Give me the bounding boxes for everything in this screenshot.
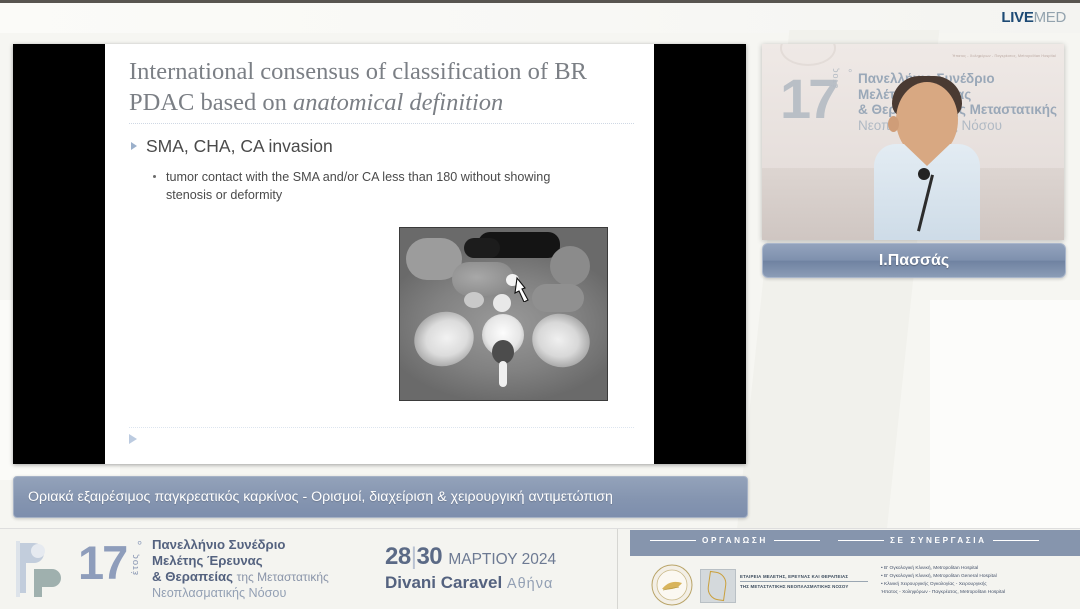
date-day-from: 28 <box>385 543 411 570</box>
band-rule-left <box>650 540 696 541</box>
collaboration-label-text: ΣΕ ΣΥΝΕΡΓΑΣΙΑ <box>890 536 987 545</box>
brand-live-text: LIVE <box>1001 9 1033 26</box>
footer-conf-line-4: Νεοπλασματικής Νόσου <box>152 586 286 600</box>
ct-ivc <box>464 292 484 308</box>
footer-divider <box>617 529 618 609</box>
slide-title: International consensus of classificatio… <box>129 56 634 118</box>
speaker-ear <box>888 116 899 132</box>
ct-spinous-process <box>499 361 507 387</box>
backdrop-etos-label: έτος <box>830 67 840 88</box>
ct-stomach-gas-2 <box>464 238 500 258</box>
footer-etos-label: έτος <box>130 553 141 575</box>
footer-conference-number: 17 <box>78 535 126 590</box>
footer-conf-line-3-bold: & Θεραπείας <box>152 569 237 584</box>
footer-dates: 28|30 ΜΑΡΤΙΟΥ 2024 Divani Caravel Αθήνα <box>385 543 556 593</box>
footer-date-line: 28|30 ΜΑΡΤΙΟΥ 2024 <box>385 543 556 571</box>
backdrop-small-text: Ήπατος - Χοληφόρων - Παγκρέατος, Metropo… <box>952 54 1056 58</box>
speaker-name-text: Ι.Πασσάς <box>879 252 949 270</box>
brand-med-text: MED <box>1034 9 1066 26</box>
speaker-figure <box>874 82 980 240</box>
footer-conf-line-3-thin: της Μεταστατικής <box>237 570 329 584</box>
band-rule-right <box>774 540 820 541</box>
dot-bullet-icon <box>153 175 156 178</box>
slide-bottom-triangle-icon <box>129 434 137 444</box>
organizer-label: ΟΡΓΑΝΩΣΗ <box>650 536 820 545</box>
triangle-bullet-icon <box>131 142 137 150</box>
society-name: ΕΤΑΙΡΕΙΑ ΜΕΛΕΤΗΣ, ΕΡΕΥΝΑΣ ΚΑΙ ΘΕΡΑΠΕΙΑΣ … <box>740 573 868 592</box>
footer-conf-line-2: Μελέτης Έρευνας <box>152 553 263 568</box>
date-month-year: ΜΑΡΤΙΟΥ 2024 <box>448 551 556 568</box>
slide-title-line2-plain: PDAC based on <box>129 89 293 116</box>
slide-viewer[interactable]: International consensus of classificatio… <box>13 44 746 464</box>
slide-bullet-level1-text: SMA, CHA, CA invasion <box>146 136 333 156</box>
slide-title-line2-italic: anatomical definition <box>293 89 503 116</box>
footer-organizer-band: ΟΡΓΑΝΩΣΗ ΣΕ ΣΥΝΕΡΓΑΣΙΑ <box>630 530 1080 556</box>
session-title-bar: Οριακά εξαιρέσιμος παγκρεατικός καρκίνος… <box>13 476 748 518</box>
slide-title-line1: International consensus of classificatio… <box>129 58 587 85</box>
footer-venue-line: Divani Caravel Αθήνα <box>385 573 556 593</box>
backdrop-conference-number: 17 <box>780 66 836 131</box>
microphone-icon <box>918 168 930 180</box>
backdrop-degree-symbol: ° <box>848 68 852 80</box>
footer: 17 ° έτος Πανελλήνιο Συνέδριο Μελέτης Έρ… <box>0 528 1080 609</box>
ct-arrow-annotation-icon <box>514 276 538 302</box>
society-seal-icon <box>650 563 694 607</box>
venue-city: Αθήνα <box>507 576 553 592</box>
ct-bowel-right <box>532 284 584 312</box>
speaker-name-badge: Ι.Πασσάς <box>762 243 1066 278</box>
conference-mark-icon <box>14 535 70 601</box>
organizer-label-text: ΟΡΓΑΝΩΣΗ <box>702 536 768 545</box>
collaboration-label: ΣΕ ΣΥΝΕΡΓΑΣΙΑ <box>838 536 1039 545</box>
slide-content: International consensus of classificatio… <box>105 44 654 464</box>
affiliation-item-continued: Ήπατος - Χοληφόρων - Παγκρέατος, Metropo… <box>881 589 1074 597</box>
footer-conference-title: Πανελλήνιο Συνέδριο Μελέτης Έρευνας & Θε… <box>152 537 362 602</box>
venue-name: Divani Caravel <box>385 573 502 592</box>
ct-aorta <box>493 294 511 312</box>
affiliations-list: Β' Ογκολογική Κλινική, Metropolitan Hosp… <box>874 565 1074 597</box>
affiliation-item: Β' Ογκολογική Κλινική, Metropolitan Hosp… <box>881 565 1074 573</box>
ct-pancreas-mass <box>452 262 514 296</box>
slide-bullet-level2-text: tumor contact with the SMA and/or CA les… <box>166 168 586 204</box>
footer-degree-symbol: ° <box>137 538 142 553</box>
affiliation-item: Κλινική Χειρουργικής Ογκολογίας - Χειρου… <box>881 581 1074 589</box>
band2-rule-right <box>993 540 1039 541</box>
footer-conf-line-1: Πανελλήνιο Συνέδριο <box>152 537 285 552</box>
ct-scan-image <box>399 227 608 401</box>
top-bar: LIVEMED <box>0 0 1080 33</box>
livemed-logo: LIVEMED <box>1001 9 1066 26</box>
speaker-video-player[interactable]: 17 ° έτος Πανελλήνιο Συνέδριο Μελέτης Έρ… <box>762 44 1064 240</box>
band2-rule-left <box>838 540 884 541</box>
slide-bullet-level1: SMA, CHA, CA invasion <box>131 136 631 157</box>
slide-bullet-level2: tumor contact with the SMA and/or CA les… <box>153 168 623 204</box>
ct-bowel-left <box>550 246 590 286</box>
date-day-to: 30 <box>416 543 442 570</box>
society-name-line-1: ΕΤΑΙΡΕΙΑ ΜΕΛΕΤΗΣ, ΕΡΕΥΝΑΣ ΚΑΙ ΘΕΡΑΠΕΙΑΣ <box>740 573 868 582</box>
slide-bottom-divider <box>129 426 634 428</box>
affiliation-item: Β' Ογκολογική Κλινική, Metropolitan Gene… <box>881 573 1074 581</box>
session-title-text: Οριακά εξαιρέσιμος παγκρεατικός καρκίνος… <box>14 489 613 505</box>
society-name-line-2: ΤΗΣ ΜΕΤΑΣΤΑΤΙΚΗΣ ΝΕΟΠΛΑΣΜΑΤΙΚΗΣ ΝΟΣΟΥ <box>740 583 868 591</box>
title-divider <box>129 122 634 124</box>
